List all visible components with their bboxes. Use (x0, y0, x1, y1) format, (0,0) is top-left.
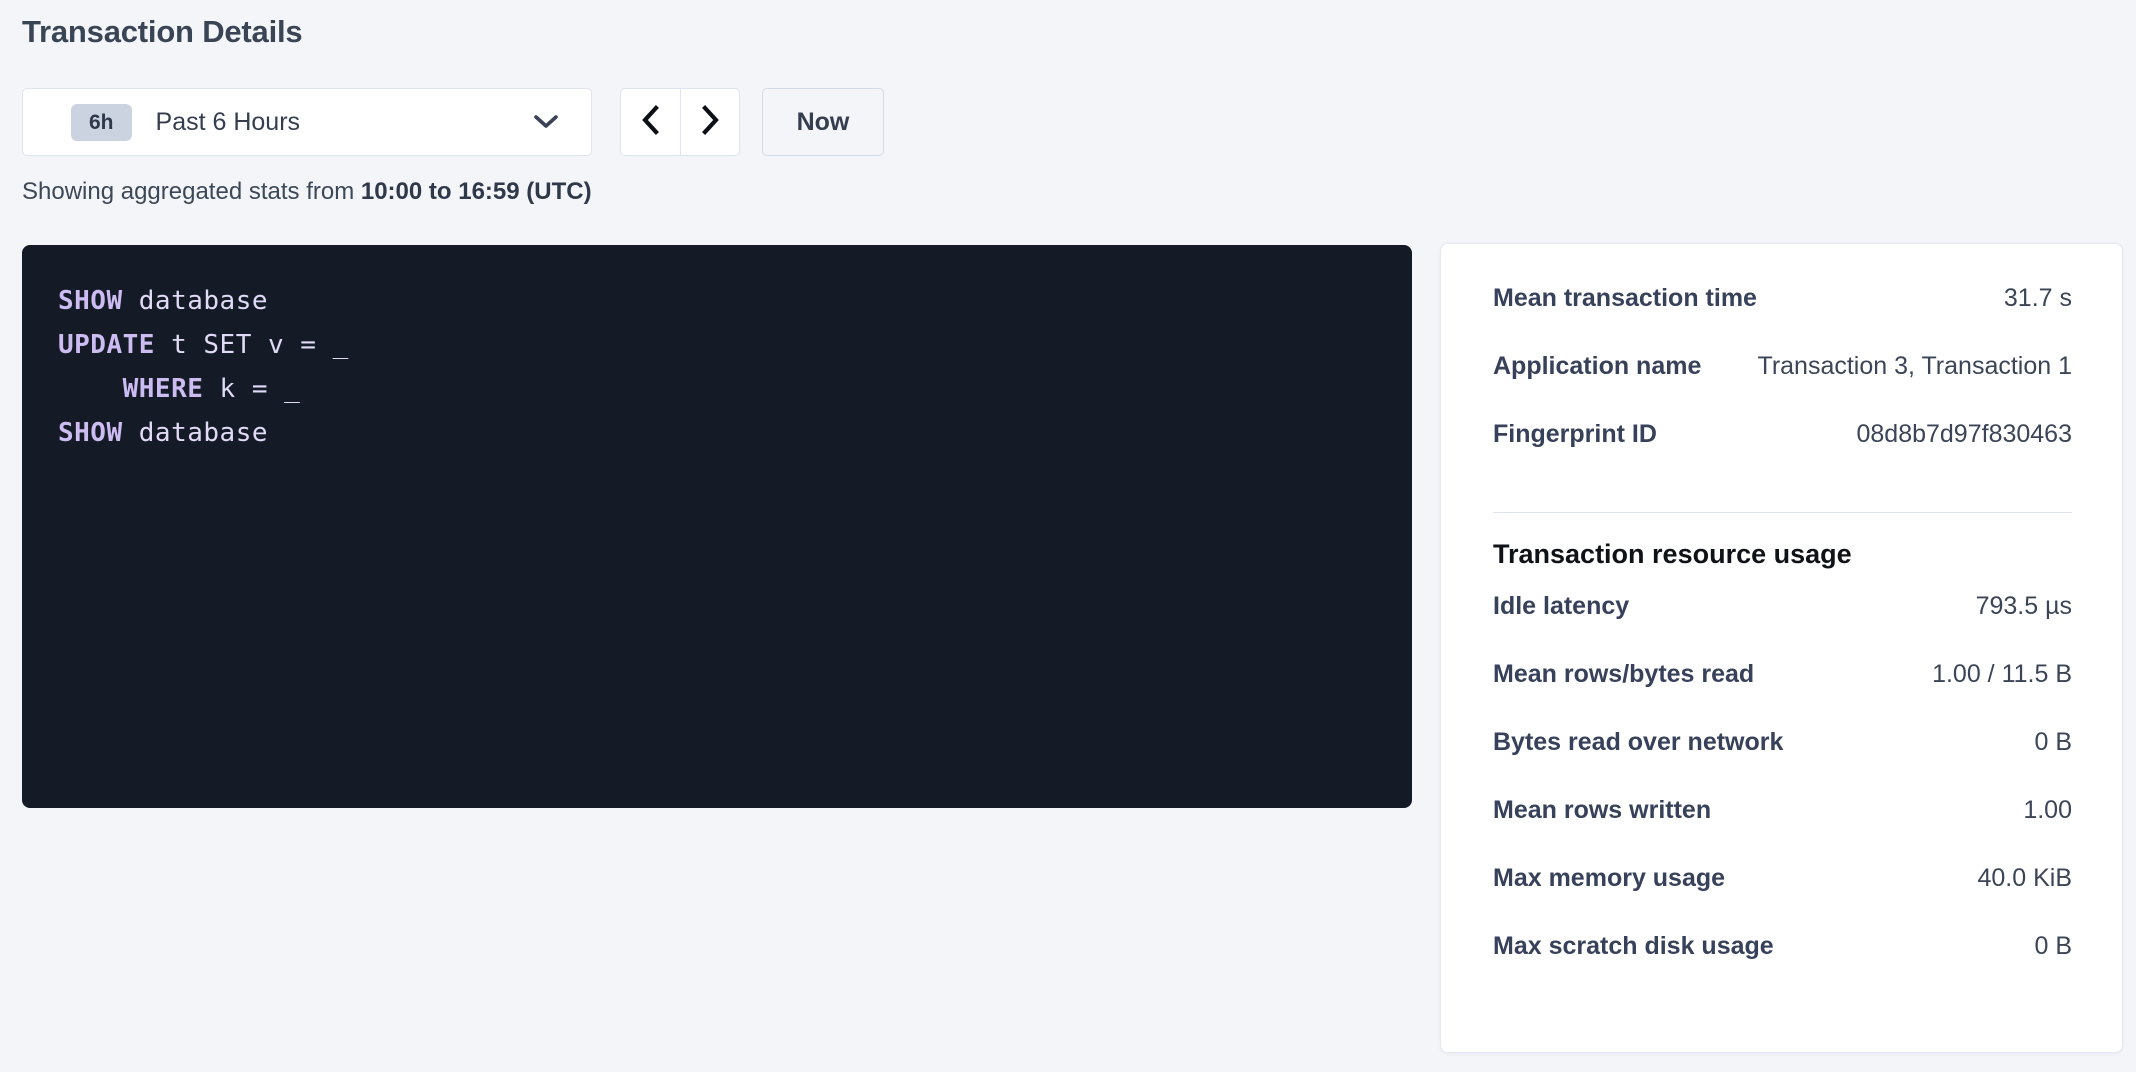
stat-value: 40.0 KiB (1959, 864, 2072, 893)
time-range-label: Past 6 Hours (156, 108, 301, 137)
stat-label: Idle latency (1493, 592, 1629, 621)
stat-label: Max memory usage (1493, 864, 1725, 893)
sql-identifier: t SET v = _ (155, 330, 349, 360)
stat-label: Mean rows/bytes read (1493, 660, 1754, 689)
next-range-button[interactable] (680, 88, 740, 156)
sql-identifier: k = _ (203, 374, 300, 404)
sql-keyword: SHOW (58, 286, 123, 316)
stat-value: 1.00 / 11.5 B (1914, 660, 2072, 689)
stat-value: 1.00 (2005, 796, 2072, 825)
chevron-right-icon (698, 104, 722, 141)
stat-value: 31.7 s (1986, 284, 2072, 313)
sql-identifier: database (123, 286, 268, 316)
stat-row: Mean rows written 1.00 (1493, 796, 2072, 864)
time-range-select[interactable]: 6h Past 6 Hours (22, 88, 592, 156)
sql-statement: SHOW database UPDATE t SET v = _ WHERE k… (58, 279, 1412, 455)
page-title: Transaction Details (22, 14, 302, 50)
chevron-left-icon (639, 104, 663, 141)
previous-range-button[interactable] (620, 88, 680, 156)
stat-value: Transaction 3, Transaction 1 (1739, 352, 2072, 381)
stat-label: Mean transaction time (1493, 284, 1757, 313)
stat-row: Mean rows/bytes read 1.00 / 11.5 B (1493, 660, 2072, 728)
time-range-badge: 6h (71, 104, 132, 141)
stat-label: Fingerprint ID (1493, 420, 1657, 449)
aggregation-range-prefix: Showing aggregated stats from (22, 178, 361, 205)
stat-row: Mean transaction time 31.7 s (1493, 284, 2072, 352)
now-button[interactable]: Now (762, 88, 884, 156)
stat-label: Mean rows written (1493, 796, 1711, 825)
stat-row: Max scratch disk usage 0 B (1493, 932, 2072, 1000)
stat-value: 0 B (2016, 932, 2072, 961)
stat-row: Idle latency 793.5 µs (1493, 592, 2072, 660)
stat-label: Bytes read over network (1493, 728, 1783, 757)
chevron-down-icon (533, 114, 559, 130)
transaction-stats-card: Mean transaction time 31.7 s Application… (1440, 243, 2123, 1053)
sql-keyword: UPDATE (58, 330, 155, 360)
sql-identifier: database (123, 418, 268, 448)
stat-row: Max memory usage 40.0 KiB (1493, 864, 2072, 932)
stat-row: Bytes read over network 0 B (1493, 728, 2072, 796)
aggregation-range-text: Showing aggregated stats from 10:00 to 1… (22, 178, 592, 206)
stat-row: Fingerprint ID 08d8b7d97f830463 (1493, 420, 2072, 488)
stat-value: 793.5 µs (1958, 592, 2072, 621)
stat-label: Max scratch disk usage (1493, 932, 1774, 961)
resource-usage-heading: Transaction resource usage (1493, 539, 2072, 570)
stat-label: Application name (1493, 352, 1701, 381)
transaction-details-page: Transaction Details 6h Past 6 Hours (0, 0, 2136, 1072)
statement-code-panel: SHOW database UPDATE t SET v = _ WHERE k… (22, 245, 1412, 808)
time-nav-pair (620, 88, 740, 156)
sql-keyword: SHOW (58, 418, 123, 448)
stat-value: 08d8b7d97f830463 (1838, 420, 2072, 449)
stat-row: Application name Transaction 3, Transact… (1493, 352, 2072, 420)
time-range-toolbar: 6h Past 6 Hours (22, 88, 884, 156)
aggregation-range-value: 10:00 to 16:59 (UTC) (361, 178, 592, 205)
sql-keyword: WHERE (58, 374, 203, 404)
stat-value: 0 B (2016, 728, 2072, 757)
card-divider (1493, 512, 2072, 513)
